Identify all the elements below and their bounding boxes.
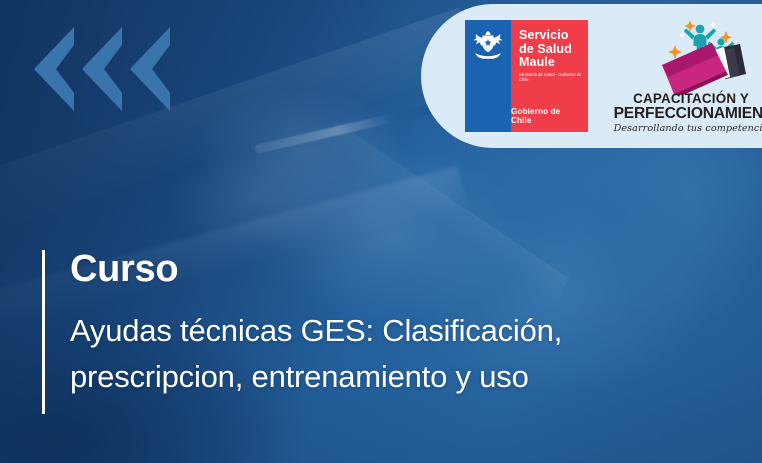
logo-panel: Servicio de Salud Maule Ministerio de Sa… (421, 4, 762, 148)
logo-red-panel: Servicio de Salud Maule Ministerio de Sa… (511, 20, 588, 132)
capacitacion-line2: PERFECCIONAMIENTO (614, 106, 762, 122)
course-kicker: Curso (70, 248, 178, 290)
capacitacion-line1: CAPACITACIÓN Y (614, 91, 762, 106)
triple-chevron-left-icon (34, 27, 174, 111)
logo-subtitle: Ministerio de Salud - Gobierno de Chile (519, 72, 589, 82)
chile-coat-of-arms-icon (469, 28, 507, 62)
servicio-de-salud-maule-logo: Servicio de Salud Maule Ministerio de Sa… (465, 20, 588, 132)
accent-vertical-rule (42, 250, 45, 414)
capacitacion-y-perfeccionamiento-logo: CAPACITACIÓN Y PERFECCIONAMIENTO Desarro… (614, 15, 762, 137)
capacitacion-logo-text: CAPACITACIÓN Y PERFECCIONAMIENTO Desarro… (614, 91, 762, 134)
capacitacion-tagline: Desarrollando tus competencias (614, 123, 762, 134)
course-title: Ayudas técnicas GES: Clasificación, pres… (70, 308, 630, 400)
logo-blue-panel (465, 20, 511, 132)
logo-footer: Gobierno de Chile (511, 107, 581, 125)
course-banner: Servicio de Salud Maule Ministerio de Sa… (0, 0, 762, 463)
logo-title: Servicio de Salud Maule (519, 29, 572, 70)
open-book-with-figures-icon (618, 15, 762, 95)
logo-title-line2: de Salud (519, 43, 572, 57)
logo-title-line1: Servicio (519, 29, 572, 43)
logo-title-line3: Maule (519, 56, 572, 70)
